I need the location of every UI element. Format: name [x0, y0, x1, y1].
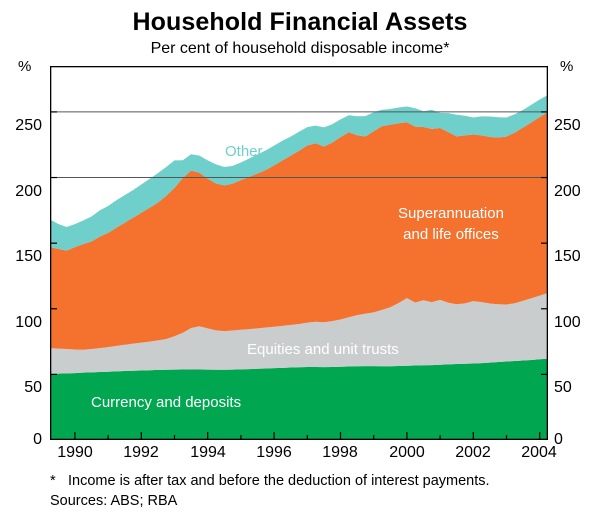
x-tick-1994: 1994 [178, 444, 238, 462]
y-tick-right-50: 50 [554, 379, 596, 397]
footnote-marker: * [50, 471, 56, 491]
y-tick-left-0: 0 [0, 431, 42, 449]
chart-title: Household Financial Assets [0, 8, 600, 37]
y-axis-unit-left: % [18, 58, 31, 75]
y-tick-left-100: 100 [0, 314, 42, 332]
plot-area [50, 66, 548, 440]
y-tick-right-100: 100 [554, 314, 596, 332]
x-tick-1992: 1992 [111, 444, 171, 462]
y-tick-left-250: 250 [0, 117, 42, 135]
x-tick-1996: 1996 [244, 444, 304, 462]
footnote-text: Income is after tax and before the deduc… [68, 471, 490, 491]
x-tick-2000: 2000 [377, 444, 437, 462]
chart-figure: Household Financial Assets Per cent of h… [0, 0, 600, 521]
footnote-sources: Sources: ABS; RBA [50, 491, 177, 511]
y-tick-left-200: 200 [0, 183, 42, 201]
x-tick-2002: 2002 [443, 444, 503, 462]
y-tick-right-250: 250 [554, 117, 596, 135]
y-tick-right-150: 150 [554, 248, 596, 266]
chart-subtitle: Per cent of household disposable income* [0, 40, 600, 58]
y-tick-right-200: 200 [554, 183, 596, 201]
x-tick-1998: 1998 [310, 444, 370, 462]
x-tick-2004: 2004 [509, 444, 569, 462]
y-axis-unit-right: % [560, 58, 573, 75]
y-tick-left-50: 50 [0, 379, 42, 397]
y-tick-left-150: 150 [0, 248, 42, 266]
stacked-area-svg [50, 66, 548, 440]
x-tick-1990: 1990 [45, 444, 105, 462]
